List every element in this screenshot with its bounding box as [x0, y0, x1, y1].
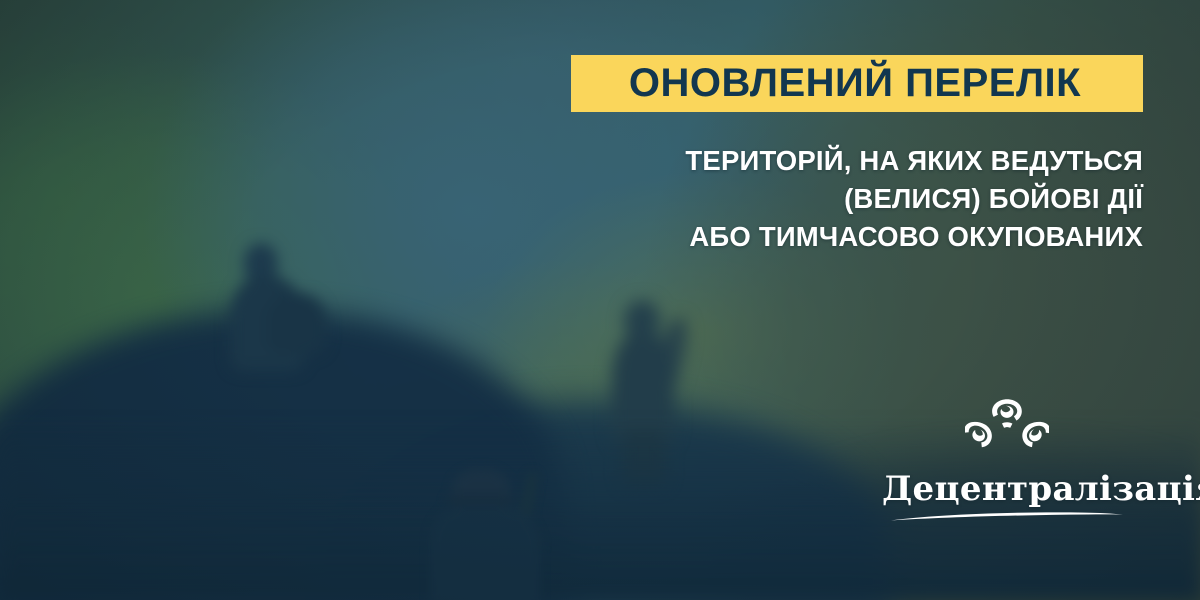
subheadline: ТЕРИТОРІЙ, НА ЯКИХ ВЕДУТЬСЯ (ВЕЛИСЯ) БОЙ…	[571, 142, 1143, 256]
subheadline-line-2: (ВЕЛИСЯ) БОЙОВІ ДІЇ	[571, 180, 1143, 218]
poster-canvas: ОНОВЛЕНИЙ ПЕРЕЛІК ТЕРИТОРІЙ, НА ЯКИХ ВЕД…	[0, 0, 1200, 600]
subheadline-line-1: ТЕРИТОРІЙ, НА ЯКИХ ВЕДУТЬСЯ	[571, 142, 1143, 180]
logo-swoosh-underline	[889, 510, 1125, 522]
brand-logo: Децентралізація	[882, 396, 1132, 522]
headline-block: ОНОВЛЕНИЙ ПЕРЕЛІК ТЕРИТОРІЙ, НА ЯКИХ ВЕД…	[571, 55, 1143, 256]
decentralization-emblem-icon	[965, 396, 1049, 462]
headline-banner: ОНОВЛЕНИЙ ПЕРЕЛІК	[571, 55, 1143, 112]
brand-wordmark: Децентралізація	[882, 470, 1132, 508]
subheadline-line-3: АБО ТИМЧАСОВО ОКУПОВАНИХ	[571, 218, 1143, 256]
